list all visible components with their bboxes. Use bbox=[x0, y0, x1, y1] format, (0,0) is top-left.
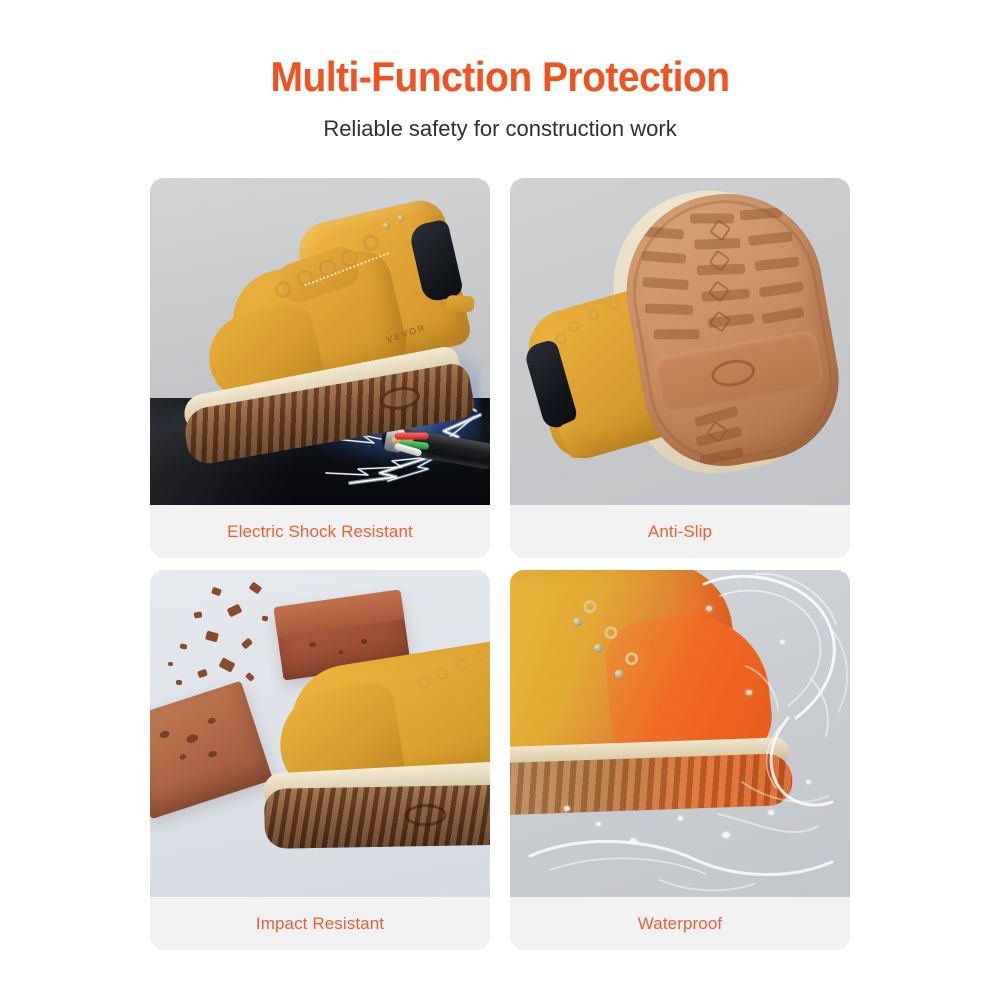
tread-block bbox=[645, 303, 693, 315]
outsole-lug-pattern bbox=[264, 784, 490, 849]
feature-image-waterproof bbox=[510, 570, 850, 897]
feature-caption-anti-slip: Anti-Slip bbox=[510, 505, 850, 558]
water-droplet bbox=[630, 838, 637, 844]
feature-card-impact-resistant[interactable]: Impact Resistant bbox=[150, 570, 490, 950]
brick-pore bbox=[185, 733, 199, 744]
water-droplet bbox=[780, 640, 785, 644]
work-boot bbox=[229, 634, 490, 897]
brick-debris bbox=[180, 643, 188, 649]
feature-caption-waterproof: Waterproof bbox=[510, 897, 850, 950]
header: Multi-Function Protection Reliable safet… bbox=[0, 52, 1000, 143]
water-droplet bbox=[768, 810, 774, 815]
brick-debris bbox=[249, 582, 263, 595]
brick-debris bbox=[241, 638, 253, 650]
water-droplet bbox=[746, 690, 752, 695]
water-droplet bbox=[706, 606, 712, 611]
feature-image-impact-resistant bbox=[150, 570, 490, 897]
brick-top-face bbox=[273, 589, 404, 637]
brick-debris bbox=[218, 657, 235, 672]
brick-debris bbox=[168, 662, 173, 666]
brick-pore bbox=[207, 717, 216, 725]
boot-pull-tab bbox=[446, 295, 475, 312]
feature-grid: VEVOR Electric Shock Resistant bbox=[150, 178, 850, 950]
brick-pore bbox=[338, 650, 344, 655]
brick-debris bbox=[205, 631, 219, 643]
water-droplet bbox=[678, 816, 683, 821]
boot-outsole bbox=[510, 753, 793, 816]
water-droplet bbox=[722, 832, 730, 838]
water-droplet bbox=[564, 806, 570, 811]
feature-image-electric-shock-resistant: VEVOR bbox=[150, 178, 490, 505]
outsole-logo-oval bbox=[709, 356, 757, 389]
brick-debris bbox=[262, 615, 269, 621]
water-droplet bbox=[596, 822, 601, 826]
water-droplet bbox=[806, 780, 811, 784]
brick-debris bbox=[194, 611, 203, 618]
tread-block bbox=[654, 329, 700, 339]
feature-card-anti-slip[interactable]: Anti-Slip bbox=[510, 178, 850, 558]
brick-debris bbox=[197, 669, 208, 678]
feature-caption-impact-resistant: Impact Resistant bbox=[150, 897, 490, 950]
tread-block bbox=[694, 238, 740, 250]
page-title: Multi-Function Protection bbox=[35, 52, 965, 102]
brick-debris bbox=[176, 680, 183, 686]
brick-pore bbox=[309, 642, 317, 648]
brick-pore bbox=[361, 639, 368, 645]
work-boot-sole-view bbox=[510, 178, 850, 505]
brick-pore bbox=[207, 750, 217, 758]
page-subtitle: Reliable safety for construction work bbox=[0, 115, 1000, 143]
brick-pore bbox=[179, 753, 187, 760]
brick-debris bbox=[211, 587, 222, 597]
feature-card-waterproof[interactable]: Waterproof bbox=[510, 570, 850, 950]
outsole-lug-pattern bbox=[510, 753, 793, 816]
feature-card-electric-shock-resistant[interactable]: VEVOR Electric Shock Resistant bbox=[150, 178, 490, 558]
brick-debris bbox=[227, 604, 243, 618]
boot-outsole bbox=[264, 784, 490, 849]
product-feature-page: Multi-Function Protection Reliable safet… bbox=[0, 0, 1000, 1000]
brick-pore bbox=[159, 730, 171, 740]
feature-image-anti-slip bbox=[510, 178, 850, 505]
tread-block bbox=[690, 213, 734, 223]
work-boot bbox=[510, 570, 834, 860]
feature-caption-electric-shock-resistant: Electric Shock Resistant bbox=[150, 505, 490, 558]
